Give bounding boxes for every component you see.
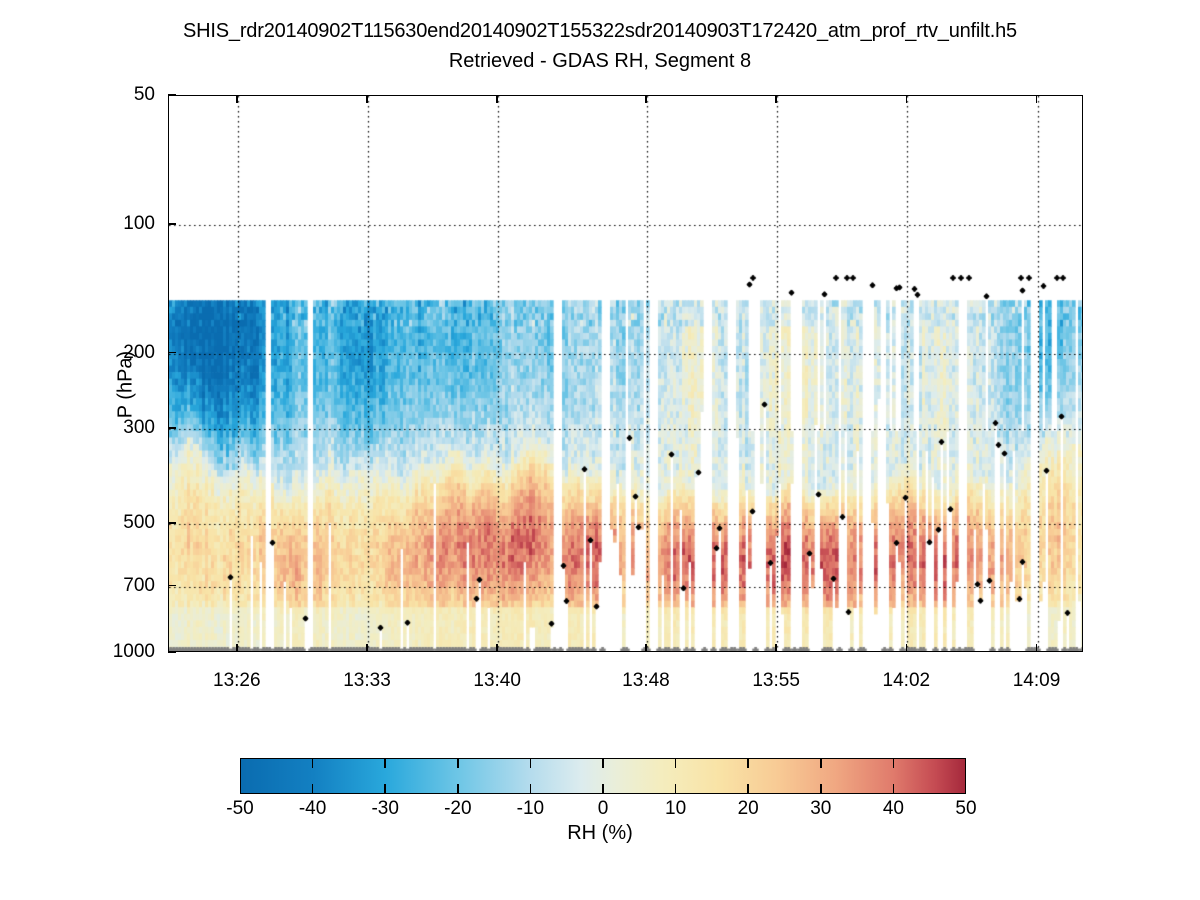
x-tick-mark bbox=[645, 644, 646, 652]
colorbar-label--30: -30 bbox=[371, 798, 398, 820]
y-tick-label-300: 300 bbox=[60, 417, 155, 439]
x-tick-mark bbox=[906, 95, 907, 103]
colorbar-title: RH (%) bbox=[0, 822, 1200, 845]
colorbar-label-10: 10 bbox=[665, 798, 686, 820]
x-tick-mark bbox=[775, 644, 776, 652]
y-axis-label: P (hPa) bbox=[115, 255, 138, 515]
colorbar-label--40: -40 bbox=[299, 798, 326, 820]
y-tick-label-1000: 1000 bbox=[60, 641, 155, 663]
x-tick-label-13-33: 13:33 bbox=[343, 670, 391, 692]
y-tick-label-500: 500 bbox=[60, 512, 155, 534]
colorbar-label-30: 30 bbox=[810, 798, 831, 820]
x-tick-label-13-26: 13:26 bbox=[213, 670, 261, 692]
gridlines-canvas bbox=[169, 96, 1083, 652]
colorbar-label-0: 0 bbox=[598, 798, 609, 820]
y-tick-label-700: 700 bbox=[60, 575, 155, 597]
x-tick-label-14-09: 14:09 bbox=[1013, 670, 1061, 692]
colorbar-label--20: -20 bbox=[444, 798, 471, 820]
x-tick-mark bbox=[645, 95, 646, 103]
x-tick-label-13-48: 13:48 bbox=[622, 670, 670, 692]
x-tick-mark bbox=[496, 95, 497, 103]
figure-root: SHIS_rdr20140902T115630end20140902T15532… bbox=[0, 0, 1200, 900]
plot-area[interactable] bbox=[168, 95, 1083, 652]
colorbar-label-20: 20 bbox=[738, 798, 759, 820]
figure-title: SHIS_rdr20140902T115630end20140902T15532… bbox=[0, 18, 1200, 44]
x-tick-mark bbox=[1036, 95, 1037, 103]
x-tick-mark bbox=[775, 95, 776, 103]
figure-titles: SHIS_rdr20140902T115630end20140902T15532… bbox=[0, 18, 1200, 74]
colorbar-label-50: 50 bbox=[955, 798, 976, 820]
x-tick-label-13-40: 13:40 bbox=[473, 670, 521, 692]
x-tick-mark bbox=[496, 644, 497, 652]
y-tick-mark bbox=[168, 585, 176, 586]
y-tick-label-200: 200 bbox=[60, 342, 155, 364]
y-tick-mark bbox=[168, 94, 176, 95]
y-tick-mark bbox=[168, 427, 176, 428]
y-tick-mark bbox=[168, 352, 176, 353]
x-tick-mark bbox=[1036, 644, 1037, 652]
y-tick-mark bbox=[168, 522, 176, 523]
y-tick-label-100: 100 bbox=[60, 213, 155, 235]
x-tick-mark bbox=[236, 644, 237, 652]
colorbar-gradient bbox=[240, 758, 966, 794]
x-tick-mark bbox=[366, 95, 367, 103]
colorbar[interactable] bbox=[240, 758, 966, 794]
colorbar-label--50: -50 bbox=[226, 798, 253, 820]
x-tick-mark bbox=[366, 644, 367, 652]
x-tick-mark bbox=[236, 95, 237, 103]
x-tick-mark bbox=[906, 644, 907, 652]
x-tick-label-13-55: 13:55 bbox=[752, 670, 800, 692]
y-tick-mark bbox=[168, 651, 176, 652]
y-tick-mark bbox=[168, 223, 176, 224]
colorbar-label--10: -10 bbox=[517, 798, 544, 820]
figure-subtitle: Retrieved - GDAS RH, Segment 8 bbox=[0, 48, 1200, 74]
y-tick-label-50: 50 bbox=[60, 84, 155, 106]
x-tick-label-14-02: 14:02 bbox=[883, 670, 931, 692]
colorbar-label-40: 40 bbox=[883, 798, 904, 820]
